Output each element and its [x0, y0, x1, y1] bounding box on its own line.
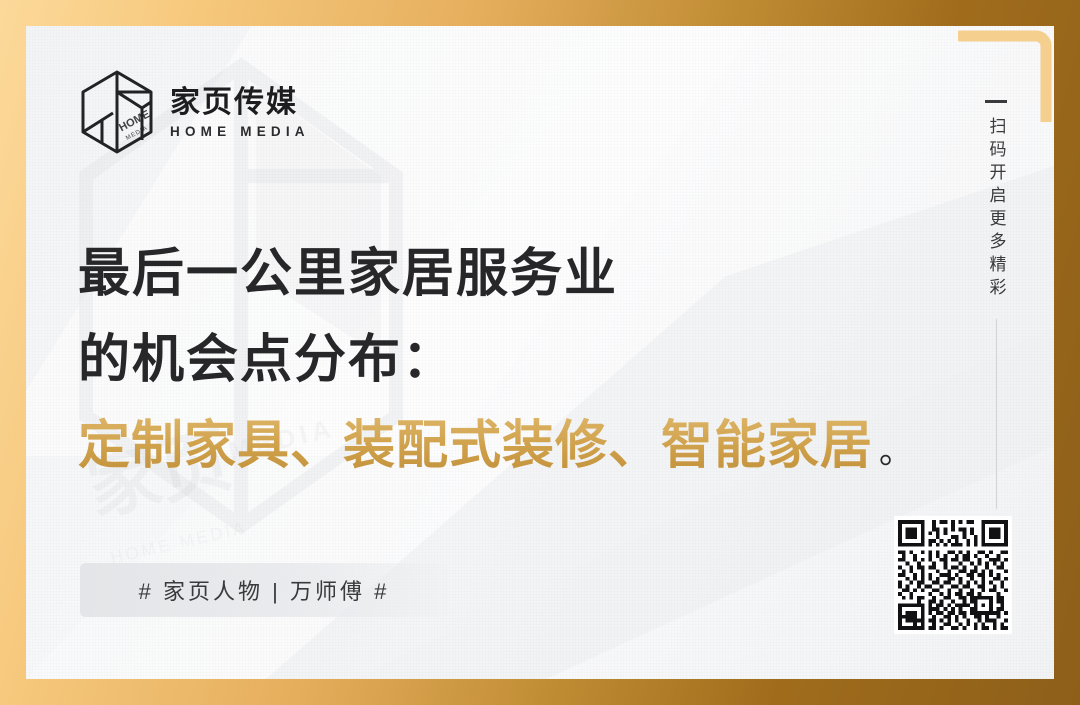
- brand-name-en: HOME MEDIA: [170, 124, 310, 139]
- vertical-rule-icon: [996, 319, 997, 509]
- vertical-caption-text: 扫码开启更多精彩: [984, 117, 1009, 301]
- headline-line-2: 的机会点分布：: [78, 317, 958, 403]
- brand-name-cn: 家页传媒: [170, 87, 310, 119]
- qr-code-icon[interactable]: [894, 516, 1012, 634]
- brand-words: 家页传媒 HOME MEDIA: [170, 85, 310, 139]
- vertical-caption: 扫码开启更多精彩: [976, 100, 1016, 509]
- poster-frame: 家页 MEDIA HOME MEDIA: [0, 0, 1080, 705]
- headline-line-1: 最后一公里家居服务业: [78, 231, 958, 317]
- headline-line-3-wrap: 定制家具、装配式装修、智能家居 。: [78, 403, 958, 495]
- hashtag-pill: # 家页人物 | 万师傅 #: [80, 563, 448, 617]
- horizontal-dash-icon: [985, 100, 1007, 103]
- svg-text:HOME MEDIA: HOME MEDIA: [109, 518, 249, 568]
- headline-block: 最后一公里家居服务业 的机会点分布： 定制家具、装配式装修、智能家居 。: [78, 231, 958, 495]
- headline-line-3-period: 。: [879, 409, 913, 495]
- headline-line-3-gold: 定制家具、装配式装修、智能家居: [78, 403, 873, 489]
- brand-lockup: HOME MEDIA 家页传媒 HOME MEDIA: [80, 70, 310, 154]
- poster-card: 家页 MEDIA HOME MEDIA: [26, 26, 1054, 679]
- home-media-hexagon-logo-icon: HOME MEDIA: [80, 70, 154, 154]
